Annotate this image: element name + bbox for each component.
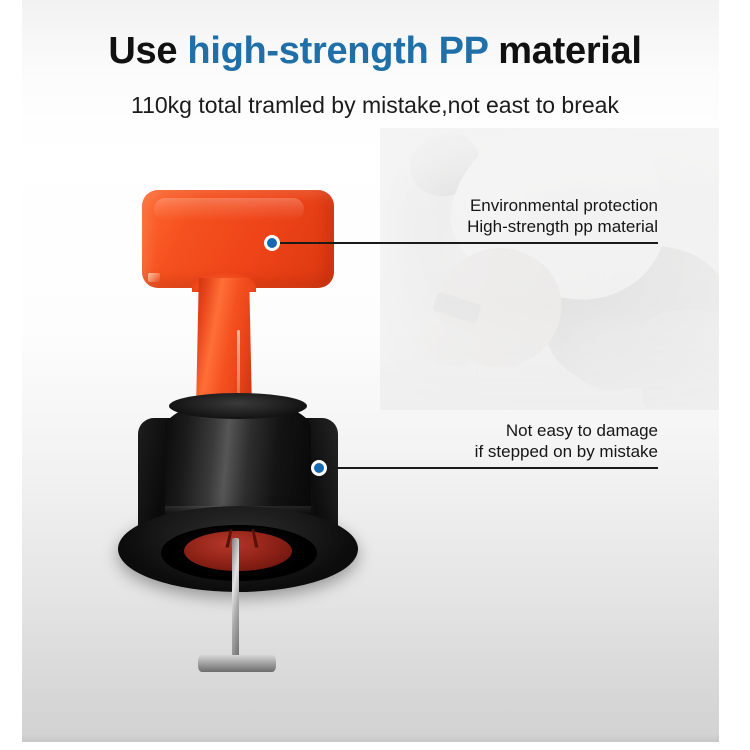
callout-environmental-line-1: Environmental protection xyxy=(258,195,658,216)
product-clip-stem xyxy=(232,538,239,662)
callout-durability-line-2: if stepped on by mistake xyxy=(258,441,658,462)
product-illustration xyxy=(0,0,750,750)
product-orange-shaft xyxy=(196,278,252,410)
callout-durability-leader-line xyxy=(323,467,658,469)
callout-environmental-leader-line xyxy=(276,242,658,244)
product-clip-base-plate xyxy=(198,655,276,672)
callout-environmental-text: Environmental protection High-strength p… xyxy=(258,195,658,237)
handle-corner-highlight xyxy=(148,273,160,282)
product-feature-banner: Use high-strength PP material 110kg tota… xyxy=(0,0,750,750)
callout-durability-text: Not easy to damage if stepped on by mist… xyxy=(258,420,658,462)
callout-durability-line-1: Not easy to damage xyxy=(258,420,658,441)
callout-environmental-dot-icon xyxy=(264,235,280,251)
callout-durability-dot-icon xyxy=(311,460,327,476)
red-disc-rib xyxy=(225,529,258,547)
cap-top-rim xyxy=(169,393,307,419)
callout-environmental-line-2: High-strength pp material xyxy=(258,216,658,237)
